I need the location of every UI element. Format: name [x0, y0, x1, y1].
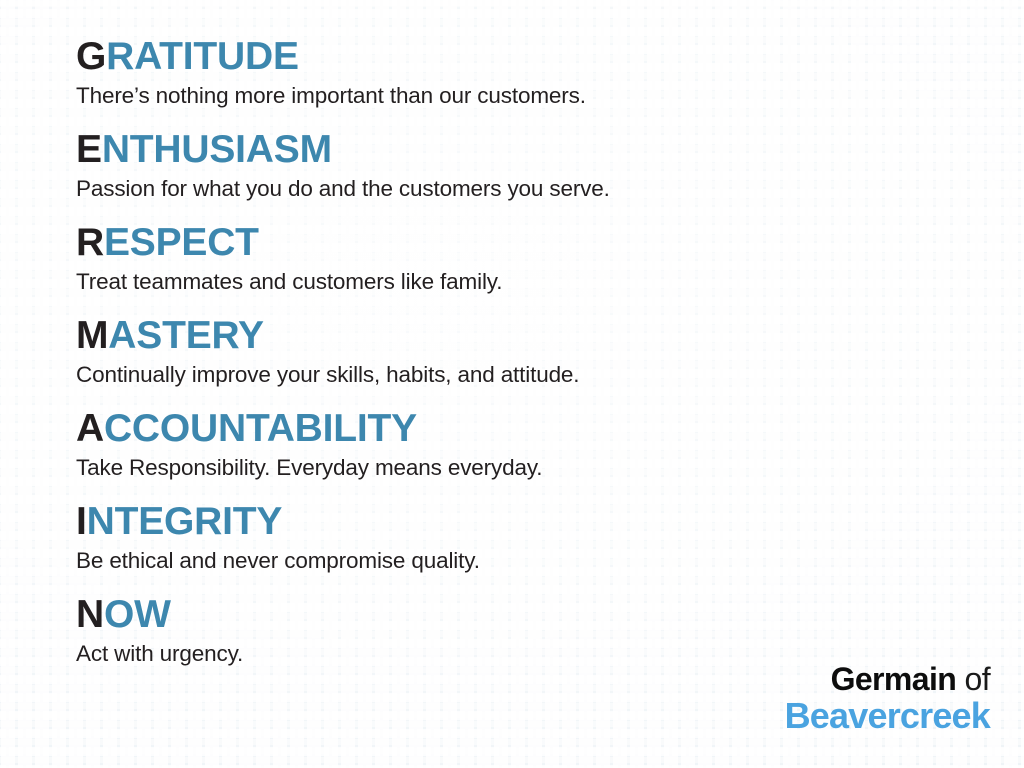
value-heading-gratitude: GRATITUDE [76, 34, 998, 80]
value-block-integrity: INTEGRITY Be ethical and never compromis… [76, 499, 998, 576]
value-heading-accountability: ACCOUNTABILITY [76, 406, 998, 452]
value-initial: N [76, 593, 104, 636]
value-initial: A [76, 407, 104, 450]
value-description-accountability: Take Responsibility. Everyday means ever… [76, 453, 998, 483]
value-initial: R [76, 221, 104, 264]
value-description-gratitude: There’s nothing more important than our … [76, 81, 998, 111]
value-heading-mastery: MASTERY [76, 313, 998, 359]
value-word-remainder: NTHUSIASM [102, 128, 332, 171]
core-values-list: GRATITUDE There’s nothing more important… [0, 0, 1024, 768]
dealership-logo: Germain of Beavercreek [785, 663, 990, 734]
value-block-respect: RESPECT Treat teammates and customers li… [76, 220, 998, 297]
value-block-accountability: ACCOUNTABILITY Take Responsibility. Ever… [76, 406, 998, 483]
value-word-remainder: ESPECT [104, 221, 259, 264]
value-description-respect: Treat teammates and customers like famil… [76, 267, 998, 297]
value-description-integrity: Be ethical and never compromise quality. [76, 546, 998, 576]
value-description-mastery: Continually improve your skills, habits,… [76, 360, 998, 390]
value-heading-respect: RESPECT [76, 220, 998, 266]
value-block-mastery: MASTERY Continually improve your skills,… [76, 313, 998, 390]
logo-primary-line: Germain of [785, 663, 990, 695]
value-word-remainder: CCOUNTABILITY [104, 407, 417, 450]
value-word-remainder: NTEGRITY [87, 500, 283, 543]
logo-brand-name: Germain [831, 661, 957, 697]
value-block-gratitude: GRATITUDE There’s nothing more important… [76, 34, 998, 111]
value-initial: M [76, 314, 108, 357]
value-heading-integrity: INTEGRITY [76, 499, 998, 545]
value-word-remainder: ASTERY [108, 314, 264, 357]
value-initial: G [76, 35, 106, 78]
logo-connector-word: of [965, 661, 991, 697]
value-block-enthusiasm: ENTHUSIASM Passion for what you do and t… [76, 127, 998, 204]
value-heading-now: NOW [76, 592, 998, 638]
value-block-now: NOW Act with urgency. [76, 592, 998, 669]
value-heading-enthusiasm: ENTHUSIASM [76, 127, 998, 173]
logo-location-name: Beavercreek [785, 698, 990, 734]
value-initial: I [76, 500, 87, 543]
value-word-remainder: RATITUDE [106, 35, 299, 78]
value-description-enthusiasm: Passion for what you do and the customer… [76, 174, 998, 204]
value-initial: E [76, 128, 102, 171]
value-word-remainder: OW [104, 593, 171, 636]
